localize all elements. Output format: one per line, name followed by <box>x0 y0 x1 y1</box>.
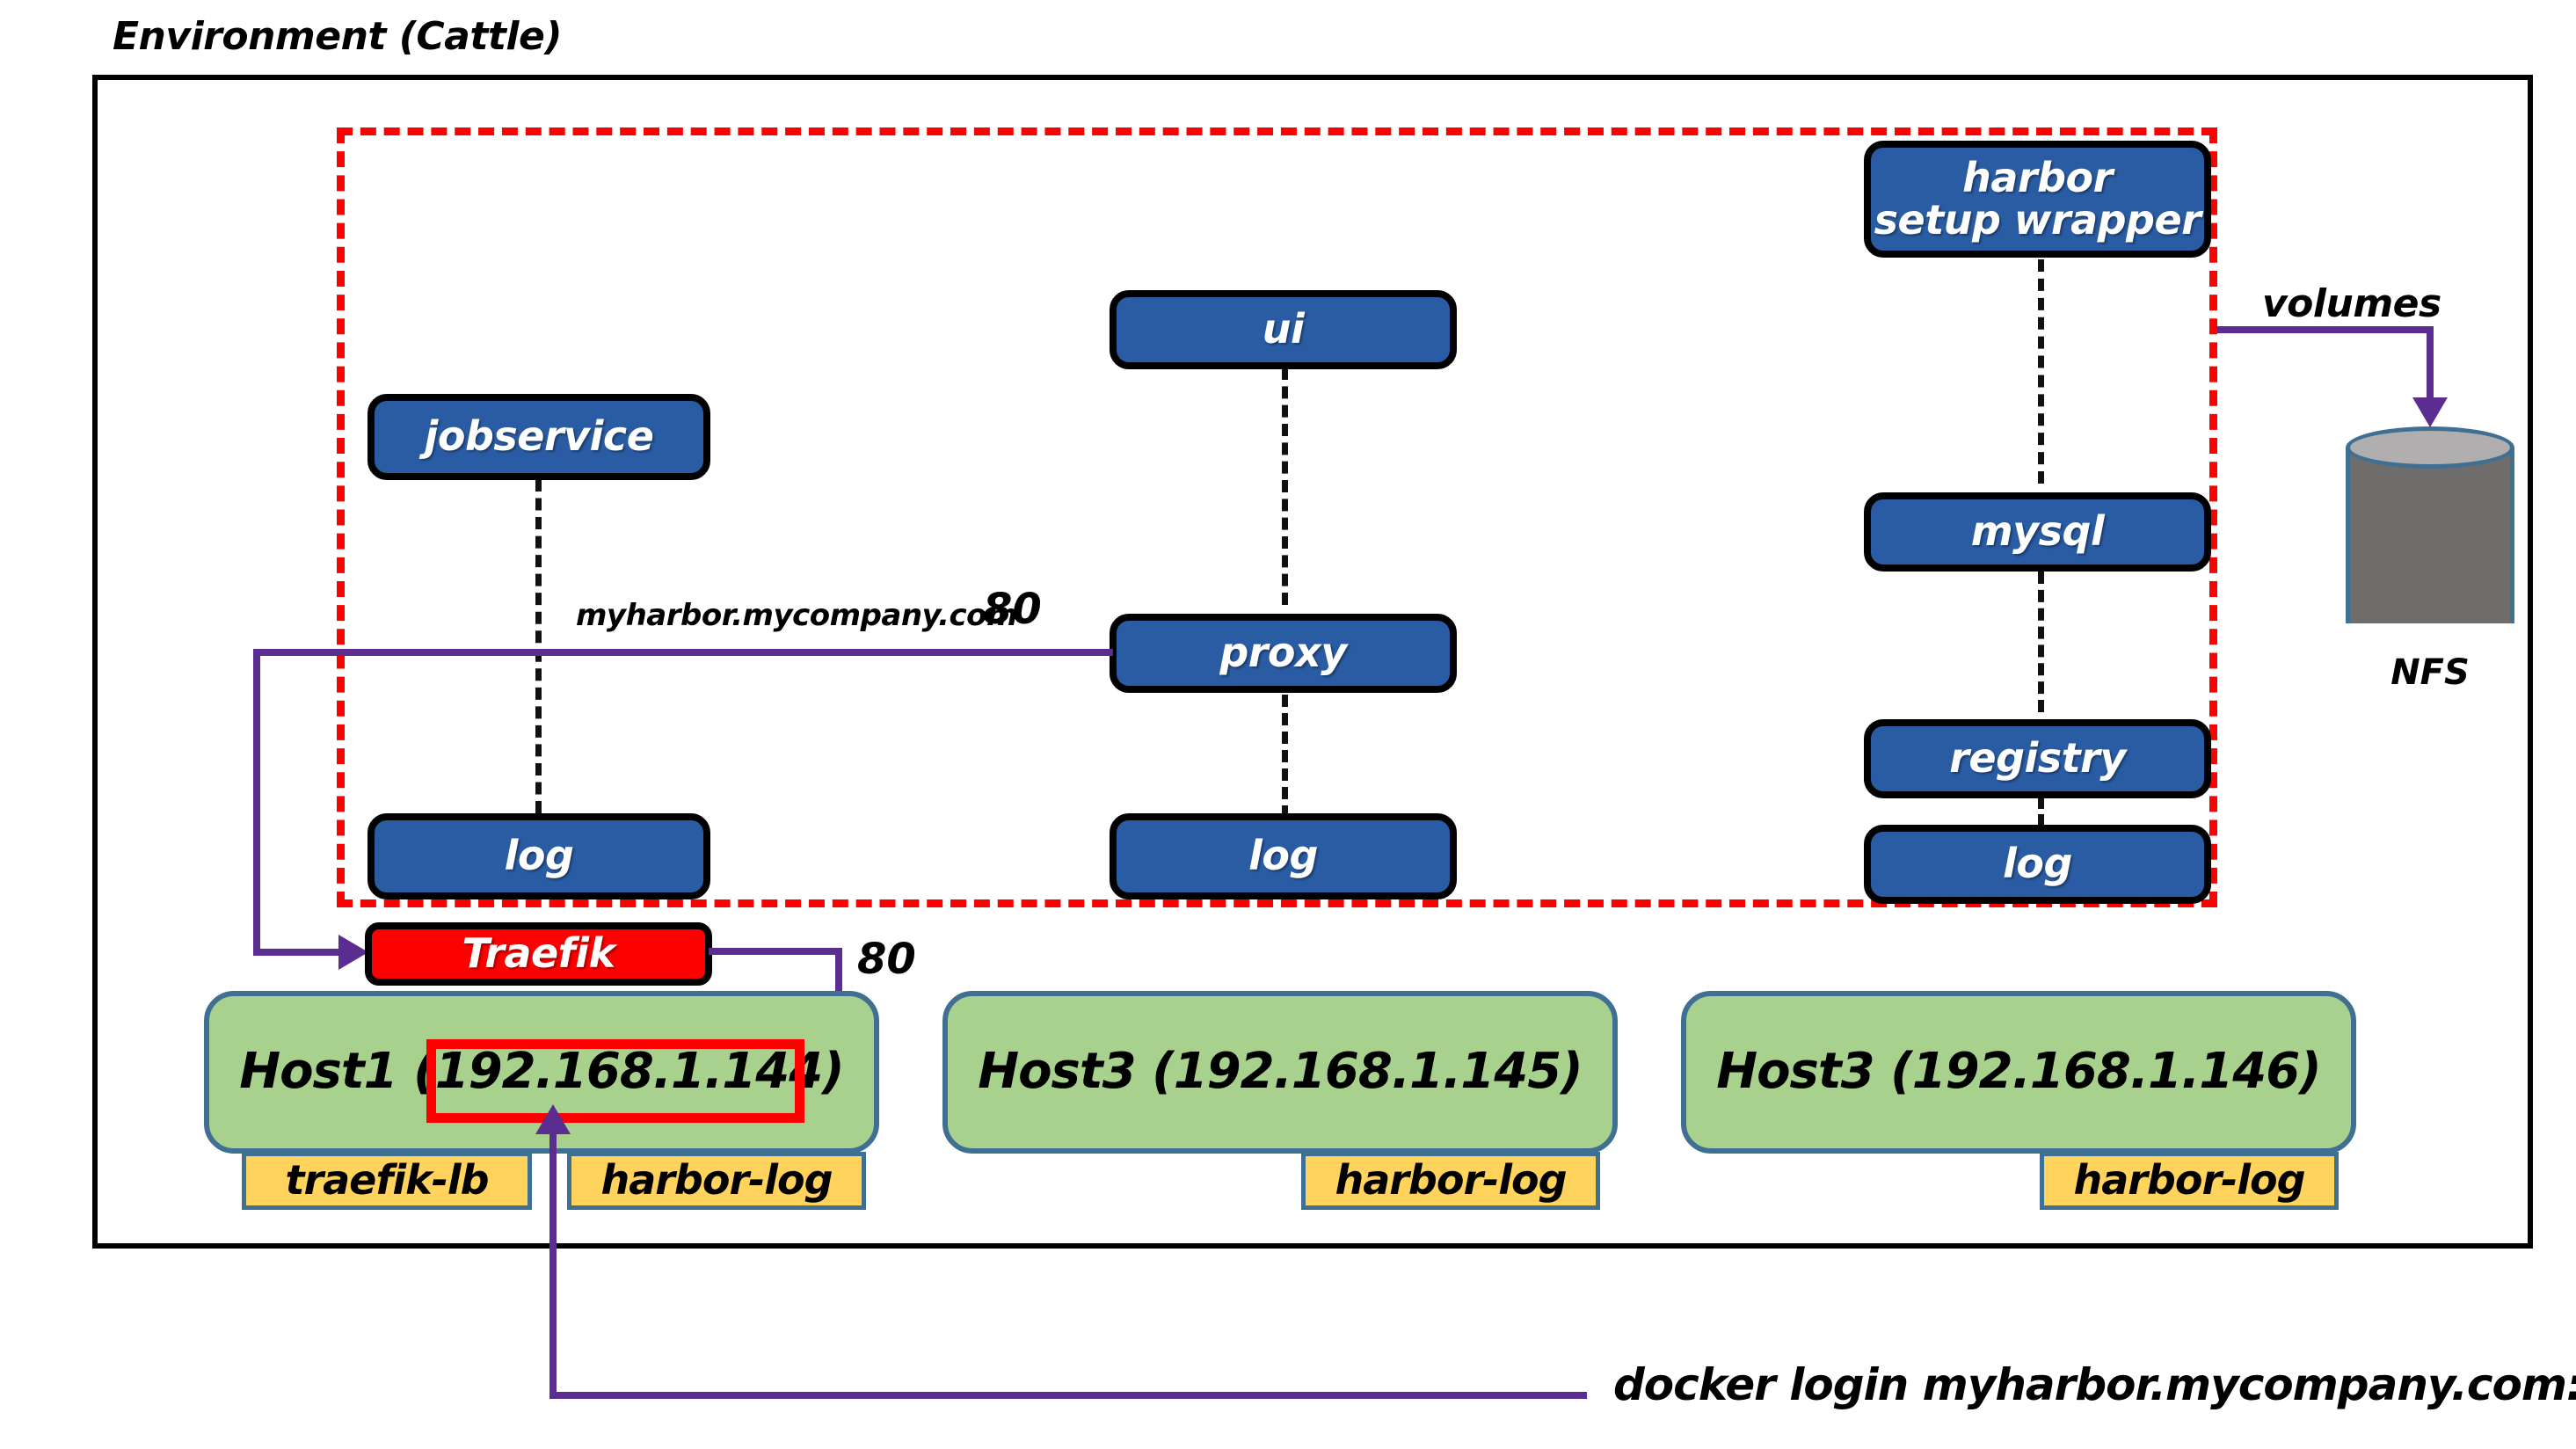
nfs-cylinder-body <box>2346 448 2514 623</box>
volumes-label: volumes <box>2262 281 2441 326</box>
node-log-proxy[interactable]: log <box>1110 813 1457 899</box>
ingress-port-label: 80 <box>983 585 1042 634</box>
nfs-label: NFS <box>2346 652 2514 693</box>
ingress-arrowhead-traefik <box>338 935 368 970</box>
host-box-2[interactable]: Host3 (192.168.1.145) <box>942 991 1618 1154</box>
host-box-3[interactable]: Host3 (192.168.1.146) <box>1681 991 2356 1154</box>
host-box-3-label: Host3 (192.168.1.146) <box>1716 1046 2321 1097</box>
ingress-connector-proxy-horizontal <box>253 649 1113 656</box>
stack-tag-harbor-log-host3-label: harbor-log <box>2073 1160 2304 1202</box>
node-ui-label: ui <box>1263 309 1305 351</box>
node-jobservice-label: jobservice <box>425 416 654 458</box>
traefik-port-label: 80 <box>857 935 916 984</box>
volumes-connector-vertical <box>2427 326 2434 404</box>
volumes-connector-horizontal <box>2217 326 2430 333</box>
node-proxy-label: proxy <box>1219 632 1346 674</box>
node-harbor-setup-wrapper-label-line2: setup wrapper <box>1874 200 2201 242</box>
stack-tag-harbor-log-host3[interactable]: harbor-log <box>2040 1152 2339 1210</box>
nfs-cylinder-top <box>2346 426 2514 469</box>
connector-ui-proxy <box>1282 368 1288 605</box>
node-proxy[interactable]: proxy <box>1110 614 1457 693</box>
volumes-arrowhead <box>2412 397 2448 427</box>
ingress-connector-vertical <box>253 649 260 955</box>
environment-title: Environment (Cattle) <box>113 14 562 59</box>
docker-login-arrowhead <box>535 1104 571 1134</box>
nfs-cylinder <box>2346 426 2514 646</box>
stack-tag-traefik-lb-label: traefik-lb <box>285 1160 488 1202</box>
connector-proxy-log <box>1282 695 1288 818</box>
node-log-jobservice-label: log <box>505 835 574 877</box>
traefik-host1-connector-horizontal-top <box>709 948 842 955</box>
node-log-proxy-label: log <box>1248 835 1318 877</box>
node-harbor-setup-wrapper[interactable]: harbor setup wrapper <box>1864 141 2211 258</box>
node-ui[interactable]: ui <box>1110 290 1457 369</box>
connector-jobservice-log <box>535 479 542 813</box>
node-log-registry[interactable]: log <box>1864 825 2211 904</box>
node-traefik[interactable]: Traefik <box>365 922 712 986</box>
node-log-jobservice[interactable]: log <box>367 813 710 899</box>
stack-tag-harbor-log-host2-label: harbor-log <box>1335 1160 1566 1202</box>
ingress-hostname-label: myharbor.mycompany.com <box>576 598 1017 633</box>
docker-login-connector-vertical <box>549 1134 557 1392</box>
connector-registry-log <box>2038 798 2044 825</box>
node-mysql-label: mysql <box>1971 511 2105 553</box>
node-log-registry-label: log <box>2003 843 2072 885</box>
node-harbor-setup-wrapper-label-line1: harbor <box>1962 157 2113 200</box>
stack-tag-harbor-log-host1[interactable]: harbor-log <box>567 1152 866 1210</box>
stack-tag-harbor-log-host1-label: harbor-log <box>600 1160 832 1202</box>
host1-ip-highlight <box>426 1039 804 1123</box>
node-traefik-label: Traefik <box>462 933 615 975</box>
host-box-2-label: Host3 (192.168.1.145) <box>978 1046 1583 1097</box>
connector-mysql-registry <box>2038 572 2044 712</box>
stack-tag-traefik-lb[interactable]: traefik-lb <box>242 1152 532 1210</box>
connector-wrapper-mysql <box>2038 259 2044 484</box>
node-mysql[interactable]: mysql <box>1864 492 2211 572</box>
node-jobservice[interactable]: jobservice <box>367 394 710 480</box>
docker-login-connector-horizontal <box>549 1392 1587 1399</box>
docker-login-label: docker login myharbor.mycompany.com:80 <box>1613 1359 2576 1410</box>
stack-tag-harbor-log-host2[interactable]: harbor-log <box>1301 1152 1600 1210</box>
node-registry-label: registry <box>1949 738 2126 780</box>
diagram-canvas: Environment (Cattle) jobservice log ui p… <box>0 0 2576 1449</box>
node-registry[interactable]: registry <box>1864 719 2211 798</box>
